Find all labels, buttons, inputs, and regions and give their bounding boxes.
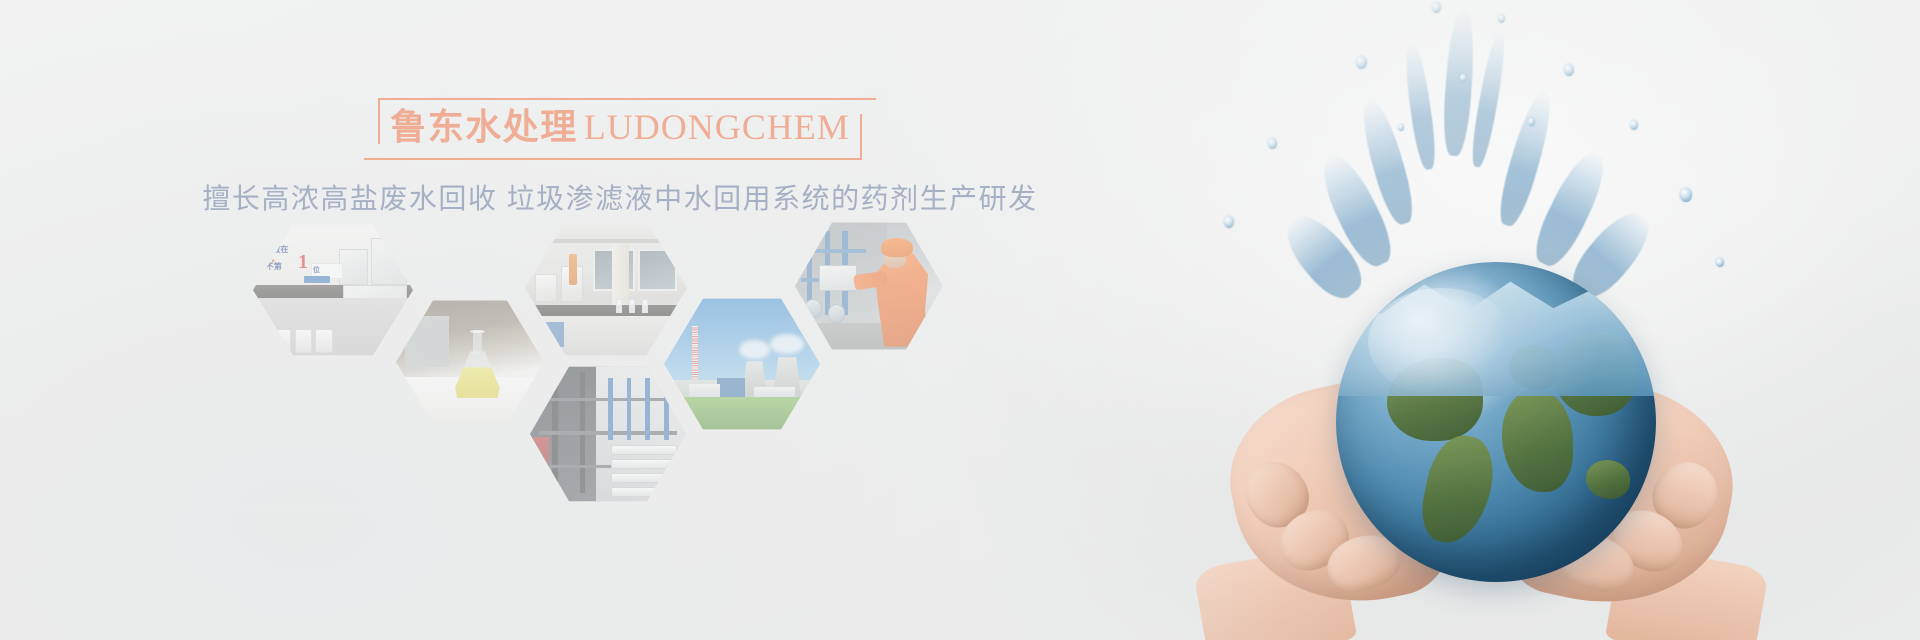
photo-plant-operator	[795, 220, 943, 352]
water-droplet	[1528, 118, 1535, 126]
photo-laboratory-glassware	[525, 218, 687, 358]
chemical-drum	[295, 329, 313, 352]
water-droplet	[1680, 188, 1692, 202]
plant-building	[717, 378, 745, 397]
water-droplet	[1564, 64, 1574, 76]
blue-pipe	[608, 378, 613, 440]
blue-header-pipe	[801, 249, 866, 253]
chemical-drum	[315, 329, 333, 352]
lab-bench	[525, 305, 687, 316]
water-droplet	[1224, 216, 1234, 228]
steam-plume	[739, 340, 770, 359]
water-droplet	[1356, 56, 1367, 69]
hex-tile-laboratory-equipment[interactable]	[525, 218, 687, 358]
concrete-floor	[795, 323, 943, 352]
water-droplet	[1498, 14, 1505, 23]
lab-cabinet	[535, 274, 558, 302]
splash-streak	[1401, 39, 1439, 171]
wall-slogan-line-3: 位	[313, 265, 320, 275]
blue-pipe	[664, 378, 669, 440]
red-valve-assembly	[533, 437, 549, 479]
photo-industrial-piping-skid	[530, 364, 686, 504]
hex-tile-plant-operator[interactable]	[795, 220, 943, 352]
water-droplet	[1268, 138, 1277, 149]
hex-tile-power-plant[interactable]	[664, 296, 820, 432]
glassware	[616, 299, 622, 313]
background-window	[405, 316, 449, 367]
water-droplet	[1432, 2, 1441, 13]
hands-holding-water-globe	[1160, 0, 1920, 640]
flask-neck	[473, 331, 482, 354]
photo-laboratory-room: 放在 不第 1 位	[253, 222, 413, 358]
continent-south-america	[1415, 429, 1500, 549]
earth-water-globe	[1336, 262, 1656, 582]
valve-handwheel	[804, 299, 822, 317]
hex-tile-industrial-piping[interactable]	[530, 364, 686, 504]
wall-slogan-number: 1	[298, 252, 308, 272]
splash-streak	[1468, 28, 1510, 169]
ceiling-beam	[525, 239, 687, 243]
glassware	[642, 299, 648, 313]
flask-rim	[470, 330, 485, 333]
green-field	[664, 397, 820, 432]
wall-slogan: 放在 不第 1 位	[266, 244, 333, 279]
water-droplet	[1716, 258, 1724, 267]
continent-africa	[1502, 390, 1572, 492]
lab-cabinet	[339, 249, 368, 284]
erlenmeyer-flask	[455, 331, 499, 398]
water-droplet	[1398, 124, 1404, 131]
membrane-vessel	[611, 445, 677, 455]
membrane-vessel	[611, 473, 677, 483]
flask-body-with-yellow-liquid	[455, 351, 499, 398]
control-panel	[819, 265, 857, 291]
glassware	[629, 299, 635, 313]
blue-pipe	[627, 378, 632, 440]
striped-chimney	[692, 326, 698, 389]
blue-cabinet-door	[528, 322, 564, 347]
chemical-drum	[274, 329, 292, 352]
water-droplet	[1460, 74, 1466, 82]
wall-slogan-line-1: 放在	[273, 244, 289, 255]
valve-handwheel	[828, 304, 846, 322]
photo-yellow-reagent-flask	[396, 298, 544, 426]
hex-tile-laboratory-room[interactable]: 放在 不第 1 位	[253, 222, 413, 358]
lab-cabinet	[371, 238, 406, 284]
safety-helmet-icon	[881, 238, 914, 256]
orange-stand	[569, 254, 577, 285]
membrane-vessel	[611, 459, 677, 469]
splash-streak	[1441, 5, 1477, 156]
membrane-vessel	[611, 487, 677, 497]
window	[638, 249, 677, 291]
wall-slogan-line-2: 不第	[266, 261, 282, 272]
lab-floor	[253, 298, 413, 358]
hexagon-photo-cluster: 放在 不第 1 位	[0, 0, 1000, 640]
globe-sphere	[1336, 262, 1656, 582]
hero-banner: 鲁东水处理LUDONGCHEM 擅长高浓高盐废水回收 垃圾渗滤液中水回用系统的药…	[0, 0, 1920, 640]
water-droplet	[1630, 120, 1638, 130]
hex-tile-reagent-flask[interactable]	[396, 298, 544, 426]
photo-power-plant-cooling-towers	[664, 296, 820, 432]
continent-australia	[1586, 460, 1631, 498]
blue-pipe	[645, 378, 650, 440]
globe-specular-highlight	[1368, 288, 1515, 397]
